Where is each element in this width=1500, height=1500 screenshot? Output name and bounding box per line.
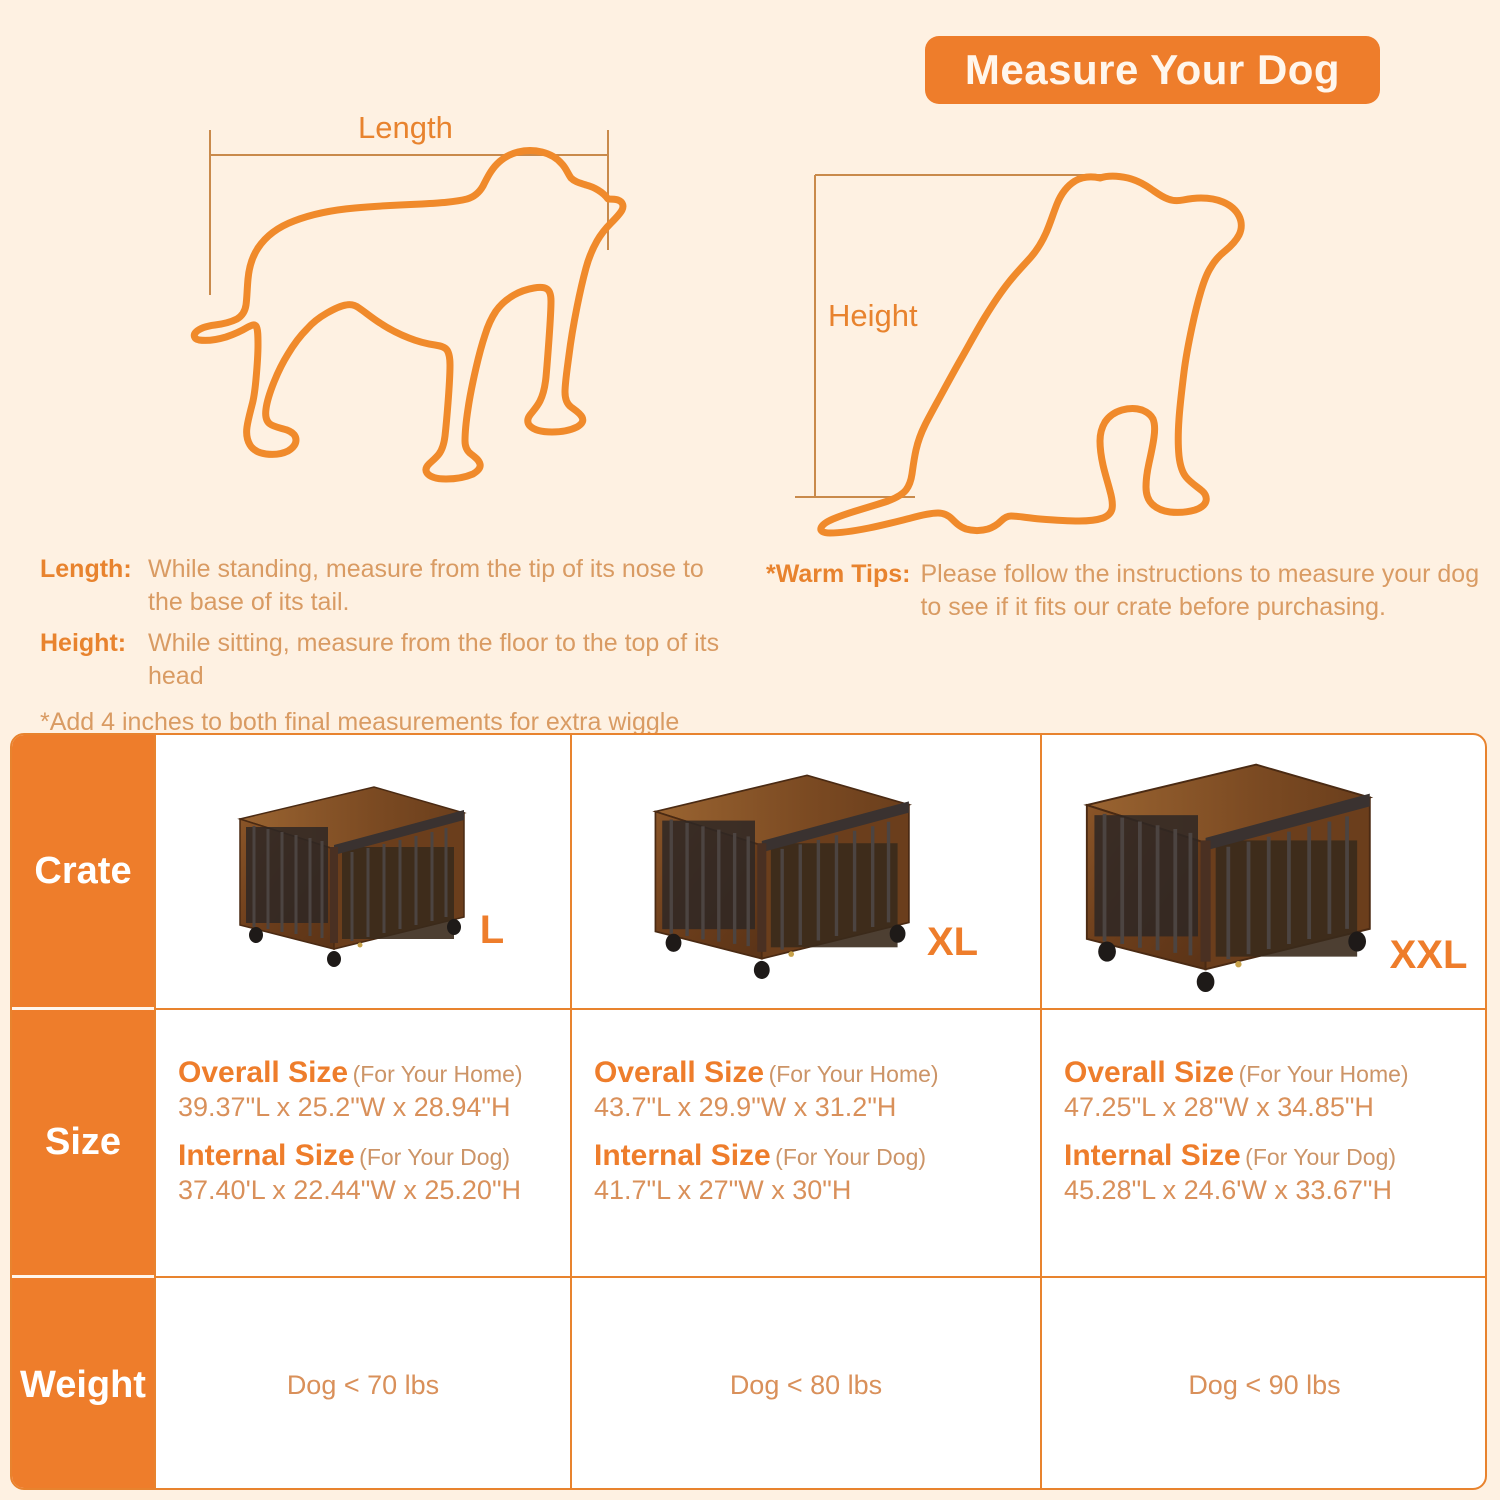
internal-size-label-xxl: Internal Size	[1064, 1139, 1241, 1172]
internal-size-sub-xl: (For Your Dog)	[775, 1144, 926, 1170]
overall-size-sub-xxl: (For Your Home)	[1239, 1061, 1409, 1087]
overall-size-label-l: Overall Size	[178, 1056, 348, 1089]
sitting-dog-illustration	[795, 160, 1265, 550]
size-cell-xxl: Overall Size (For Your Home) 47.25"L x 2…	[1040, 1010, 1487, 1278]
row-header-size: Size	[12, 1010, 154, 1278]
crate-cell-xxl: XXL	[1040, 735, 1487, 1010]
standing-dog-illustration	[190, 100, 640, 530]
crate-comparison-table: Crate	[10, 733, 1487, 1490]
overall-size-value-xxl: 47.25"L x 28"W x 34.85"H	[1064, 1092, 1487, 1123]
warm-tips-text: Please follow the instructions to measur…	[920, 558, 1486, 623]
internal-size-label-l: Internal Size	[178, 1139, 355, 1172]
height-dimension-line	[795, 175, 1125, 497]
overall-size-sub-xl: (For Your Home)	[769, 1061, 939, 1087]
height-instruction-key: Height:	[40, 627, 148, 692]
row-header-crate: Crate	[12, 735, 154, 1010]
crate-image-l	[222, 777, 472, 967]
weight-value-xl: Dog < 80 lbs	[730, 1370, 882, 1401]
size-cell-xl: Overall Size (For Your Home) 43.7"L x 29…	[570, 1010, 1040, 1278]
weight-value-l: Dog < 70 lbs	[287, 1370, 439, 1401]
internal-size-value-l: 37.40'L x 22.44"W x 25.20"H	[178, 1175, 570, 1206]
size-cell-l: Overall Size (For Your Home) 39.37"L x 2…	[154, 1010, 570, 1278]
standing-dog-outline	[194, 151, 623, 480]
infographic-page: Measure Your Dog Length Height Length:	[0, 0, 1500, 1500]
overall-size-value-xl: 43.7"L x 29.9"W x 31.2"H	[594, 1092, 1040, 1123]
page-title: Measure Your Dog	[965, 46, 1340, 94]
length-instruction-row: Length: While standing, measure from the…	[40, 553, 740, 618]
height-instruction-text: While sitting, measure from the floor to…	[148, 627, 740, 692]
internal-size-label-xl: Internal Size	[594, 1139, 771, 1172]
sitting-dog-outline	[821, 176, 1241, 533]
overall-size-label-xxl: Overall Size	[1064, 1056, 1234, 1089]
weight-cell-xxl: Dog < 90 lbs	[1040, 1278, 1487, 1490]
overall-size-label-xl: Overall Size	[594, 1056, 764, 1089]
length-instruction-text: While standing, measure from the tip of …	[148, 553, 740, 618]
internal-size-value-xl: 41.7"L x 27"W x 30"H	[594, 1175, 1040, 1206]
size-tag-l: L	[480, 908, 504, 953]
size-tag-xxl: XXL	[1390, 933, 1468, 978]
crate-image-xxl	[1062, 752, 1382, 992]
weight-cell-l: Dog < 70 lbs	[154, 1278, 570, 1490]
crate-cell-l: L	[154, 735, 570, 1010]
length-dimension-label: Length	[358, 110, 453, 146]
weight-value-xxl: Dog < 90 lbs	[1188, 1370, 1340, 1401]
page-title-badge: Measure Your Dog	[925, 36, 1380, 104]
internal-size-sub-xxl: (For Your Dog)	[1245, 1144, 1396, 1170]
height-dimension-label: Height	[828, 298, 918, 334]
overall-size-value-l: 39.37"L x 25.2"W x 28.94"H	[178, 1092, 570, 1123]
warm-tips: *Warm Tips: Please follow the instructio…	[766, 558, 1486, 623]
overall-size-sub-l: (For Your Home)	[353, 1061, 523, 1087]
crate-image-xl	[634, 764, 919, 979]
size-tag-xl: XL	[927, 920, 978, 965]
length-instruction-key: Length:	[40, 553, 148, 618]
crate-cell-xl: XL	[570, 735, 1040, 1010]
row-header-weight: Weight	[12, 1278, 154, 1490]
internal-size-value-xxl: 45.28"L x 24.6'W x 33.67"H	[1064, 1175, 1487, 1206]
warm-tips-key: *Warm Tips:	[766, 558, 910, 623]
internal-size-sub-l: (For Your Dog)	[359, 1144, 510, 1170]
weight-cell-xl: Dog < 80 lbs	[570, 1278, 1040, 1490]
height-instruction-row: Height: While sitting, measure from the …	[40, 627, 740, 692]
